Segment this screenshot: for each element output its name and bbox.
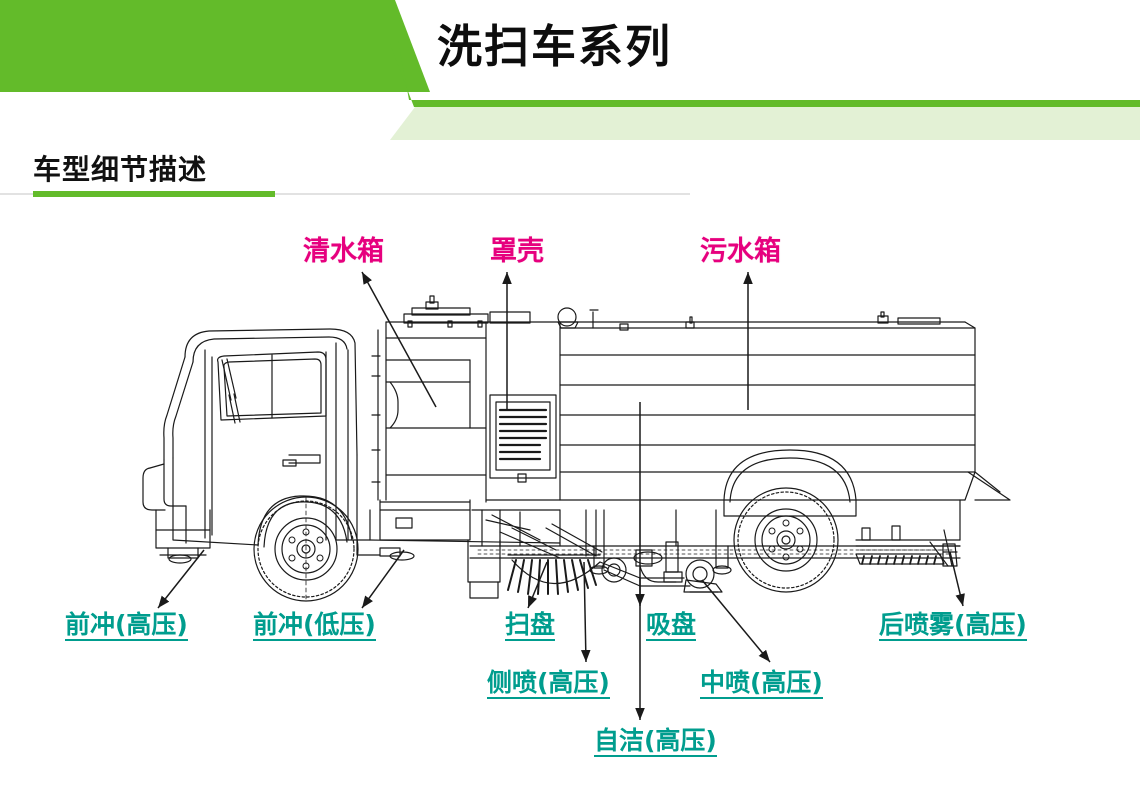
section-heading: 车型细节描述: [33, 148, 207, 188]
page-title: 洗扫车系列: [437, 22, 672, 72]
label-cover-shell: 罩壳: [490, 238, 544, 265]
callout-leader-lines: [0, 210, 1140, 805]
leader-front-flush-low: [362, 550, 404, 608]
leader-side-spray-high: [584, 562, 586, 662]
leader-front-flush-high: [158, 550, 204, 608]
leader-rear-spray-high: [950, 552, 963, 606]
slide: 洗扫车系列 车型细节描述: [0, 0, 1140, 805]
label-self-clean-high: 自洁(高压): [594, 728, 717, 757]
label-rear-spray-high: 后喷雾(高压): [879, 612, 1027, 641]
slide-header: 洗扫车系列: [0, 0, 1140, 150]
label-side-spray-high: 侧喷(高压): [487, 670, 610, 699]
label-mid-spray-high: 中喷(高压): [700, 670, 823, 699]
header-green-band: [0, 0, 430, 92]
leader-sweeping-disc: [528, 562, 547, 608]
leader-clean-water-tank: [362, 272, 436, 407]
label-front-flush-low: 前冲(低压): [253, 612, 376, 641]
leader-mid-spray-high: [702, 580, 770, 662]
header-light-band: [390, 107, 1140, 140]
label-sweeping-disc: 扫盘: [505, 612, 555, 641]
label-suction-cup: 吸盘: [646, 612, 696, 641]
truck-diagram: 清水箱 罩壳 污水箱 前冲(高压) 前冲(低压) 扫盘 吸盘 后喷雾(高压) 侧…: [0, 210, 1140, 805]
label-clean-water-tank: 清水箱: [303, 238, 384, 265]
label-sewage-tank: 污水箱: [700, 238, 781, 265]
section-rule-green: [33, 191, 275, 197]
label-front-flush-high: 前冲(高压): [65, 612, 188, 641]
